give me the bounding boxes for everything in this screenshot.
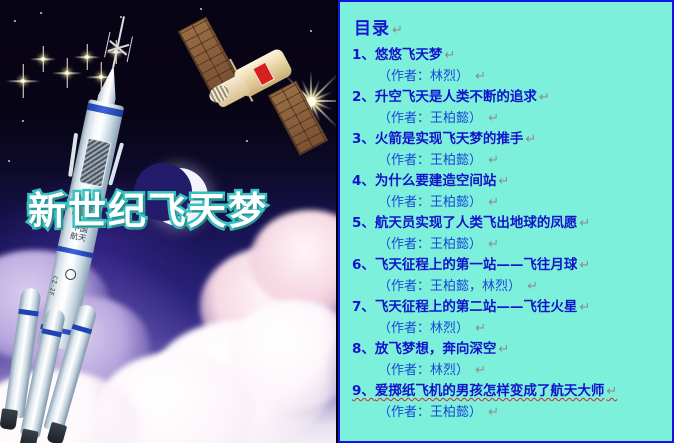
paragraph-mark-icon: ↵	[444, 48, 455, 63]
toc-entry[interactable]: 5、航天员实现了人类飞出地球的凤愿↵（作者：王柏懿） ↵	[340, 213, 672, 255]
toc-entry-author-text: （作者：王柏懿）	[378, 153, 482, 168]
toc-heading-text: 目录	[354, 19, 390, 39]
toc-entry-author: （作者：林烈） ↵	[378, 318, 672, 339]
paragraph-mark-icon: ↵	[539, 90, 550, 105]
toc-entry-title[interactable]: 4、为什么要建造空间站↵	[352, 171, 672, 192]
toc-entry-author: （作者：王柏懿） ↵	[378, 150, 672, 171]
star-dot-icon	[40, 12, 42, 14]
paragraph-mark-icon: ↵	[471, 363, 486, 378]
toc-entry-number: 8、	[352, 341, 375, 357]
star-dot-icon	[14, 20, 16, 22]
toc-entry-title-text: 飞天征程上的第一站——飞往月球	[375, 257, 578, 273]
toc-entry-author-text: （作者：林烈）	[378, 363, 469, 378]
paragraph-mark-icon: ↵	[484, 111, 499, 126]
paragraph-mark-icon: ↵	[579, 300, 590, 315]
toc-entry[interactable]: 7、飞天征程上的第二站——飞往火星↵（作者：林烈） ↵	[340, 297, 672, 339]
toc-entry-author: （作者：王柏懿） ↵	[378, 234, 672, 255]
toc-entry[interactable]: 6、飞天征程上的第一站——飞往月球↵（作者：王柏懿，林烈） ↵	[340, 255, 672, 297]
toc-entry-author: （作者：林烈） ↵	[378, 66, 672, 87]
paragraph-mark-icon: ↵	[525, 132, 536, 147]
paragraph-mark-icon: ↵	[484, 153, 499, 168]
toc-entry-author-text: （作者：王柏懿，林烈）	[378, 279, 521, 294]
page-root: 中国航天 CZ-2F 新世纪飞天梦 目录↵ 1、悠悠飞天梦↵（作者：林烈） ↵2…	[0, 0, 674, 443]
toc-entry-number: 6、	[352, 257, 375, 273]
toc-entry-number: 4、	[352, 173, 375, 189]
toc-entry[interactable]: 3、火箭是实现飞天梦的推手↵（作者：王柏懿） ↵	[340, 129, 672, 171]
toc-entry-title-text: 放飞梦想，奔向深空	[375, 341, 497, 357]
paragraph-mark-icon: ↵	[471, 321, 486, 336]
toc-entry-author: （作者：王柏懿） ↵	[378, 402, 672, 423]
rocket-nozzle	[19, 428, 39, 443]
solar-panel	[268, 80, 328, 155]
paragraph-mark-icon: ↵	[484, 237, 499, 252]
toc-entry-title-text: 为什么要建造空间站	[375, 173, 497, 189]
toc-entry-title-text: 火箭是实现飞天梦的推手	[375, 131, 524, 147]
launch-escape-tower-truss	[104, 32, 133, 62]
star-dot-icon	[8, 160, 10, 162]
toc-entry-author: （作者：王柏懿） ↵	[378, 192, 672, 213]
paragraph-mark-icon: ↵	[579, 258, 590, 273]
toc-entry-author-text: （作者：王柏懿）	[378, 405, 482, 420]
toc-entry-number: 2、	[352, 89, 375, 105]
toc-entry-number: 9、	[352, 383, 375, 399]
toc-entry-number: 1、	[352, 47, 375, 63]
paragraph-mark-icon: ↵	[392, 23, 404, 38]
toc-entry[interactable]: 2、升空飞天是人类不断的追求↵（作者：王柏懿） ↵	[340, 87, 672, 129]
toc-heading: 目录↵	[354, 14, 672, 39]
poster-illustration: 中国航天 CZ-2F 新世纪飞天梦	[0, 0, 336, 443]
toc-entry-author-text: （作者：林烈）	[378, 69, 469, 84]
toc-entry-title[interactable]: 6、飞天征程上的第一站——飞往月球↵	[352, 255, 672, 276]
toc-entry-number: 3、	[352, 131, 375, 147]
toc-entry-author: （作者：王柏懿，林烈） ↵	[378, 276, 672, 297]
toc-entry-title-text: 飞天征程上的第二站——飞往火星	[375, 299, 578, 315]
paragraph-mark-icon: ↵	[471, 69, 486, 84]
star-dot-icon	[200, 8, 202, 10]
paragraph-mark-icon: ↵	[523, 279, 538, 294]
toc-entry-author-text: （作者：王柏懿）	[378, 237, 482, 252]
toc-entry-title[interactable]: 2、升空飞天是人类不断的追求↵	[352, 87, 672, 108]
toc-entry-author: （作者：林烈） ↵	[378, 360, 672, 381]
toc-entry-title[interactable]: 5、航天员实现了人类飞出地球的凤愿↵	[352, 213, 672, 234]
toc-entry[interactable]: 4、为什么要建造空间站↵（作者：王柏懿） ↵	[340, 171, 672, 213]
toc-entry-title-text: 航天员实现了人类飞出地球的凤愿	[375, 215, 578, 231]
paragraph-mark-icon: ↵	[498, 174, 509, 189]
toc-entry-title[interactable]: 9、爱掷纸飞机的男孩怎样变成了航天大师↵	[352, 381, 672, 402]
paragraph-mark-icon: ↵	[484, 195, 499, 210]
toc-entry[interactable]: 9、爱掷纸飞机的男孩怎样变成了航天大师↵（作者：王柏懿） ↵	[340, 381, 672, 423]
toc-entry-title-text: 爱掷纸飞机的男孩怎样变成了航天大师	[375, 383, 605, 399]
toc-entry-title[interactable]: 7、飞天征程上的第二站——飞往火星↵	[352, 297, 672, 318]
toc-entry-author-text: （作者：王柏懿）	[378, 195, 482, 210]
toc-entry[interactable]: 8、放飞梦想，奔向深空↵（作者：林烈） ↵	[340, 339, 672, 381]
poster-title: 新世纪飞天梦	[28, 180, 268, 235]
star-dot-icon	[22, 120, 24, 122]
toc-entry-title[interactable]: 3、火箭是实现飞天梦的推手↵	[352, 129, 672, 150]
toc-entry-title-text: 升空飞天是人类不断的追求	[375, 89, 537, 105]
paragraph-mark-icon: ↵	[498, 342, 509, 357]
toc-entry-title-text: 悠悠飞天梦	[375, 47, 443, 63]
toc-list: 1、悠悠飞天梦↵（作者：林烈） ↵2、升空飞天是人类不断的追求↵（作者：王柏懿）…	[340, 45, 672, 423]
toc-entry-number: 5、	[352, 215, 375, 231]
toc-entry-number: 7、	[352, 299, 375, 315]
paragraph-mark-icon: ↵	[606, 384, 617, 399]
toc-entry-title[interactable]: 1、悠悠飞天梦↵	[352, 45, 672, 66]
table-of-contents-panel: 目录↵ 1、悠悠飞天梦↵（作者：林烈） ↵2、升空飞天是人类不断的追求↵（作者：…	[338, 0, 674, 443]
rocket-nozzle	[0, 408, 18, 430]
toc-entry-author-text: （作者：林烈）	[378, 321, 469, 336]
toc-entry-author: （作者：王柏懿） ↵	[378, 108, 672, 129]
toc-entry[interactable]: 1、悠悠飞天梦↵（作者：林烈） ↵	[340, 45, 672, 87]
paragraph-mark-icon: ↵	[579, 216, 590, 231]
paragraph-mark-icon: ↵	[484, 405, 499, 420]
toc-entry-title[interactable]: 8、放飞梦想，奔向深空↵	[352, 339, 672, 360]
toc-entry-author-text: （作者：王柏懿）	[378, 111, 482, 126]
